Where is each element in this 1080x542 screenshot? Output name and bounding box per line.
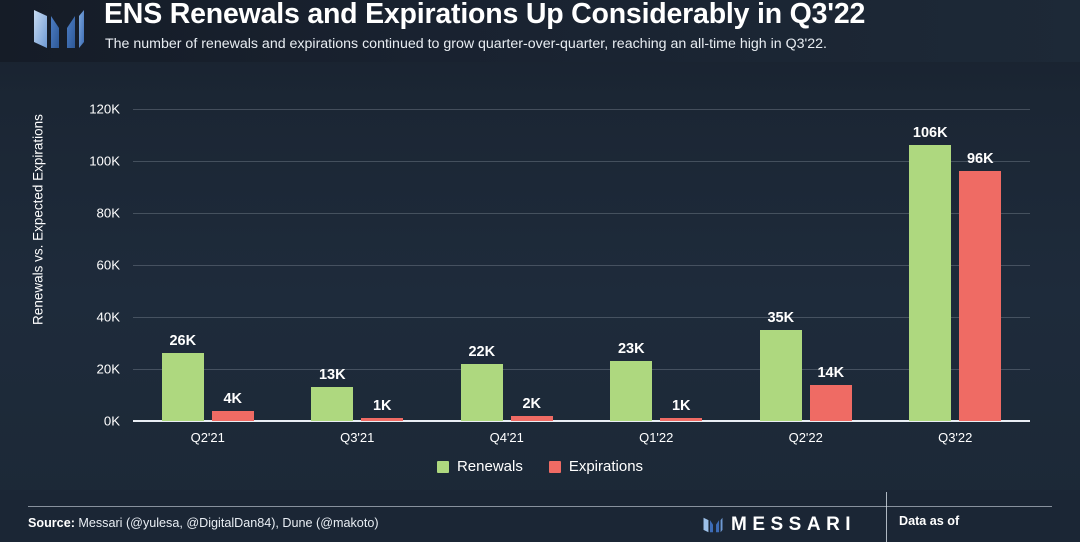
chart-subtitle: The number of renewals and expirations c… bbox=[105, 36, 827, 52]
footer-bar: Source: Messari (@yulesa, @DigitalDan84)… bbox=[0, 490, 1080, 542]
y-axis-tick-label: 100K bbox=[5, 154, 120, 169]
bar-expirations-Q321[interactable]: 1K bbox=[361, 418, 403, 421]
bar-value-label: 1K bbox=[672, 398, 691, 414]
chart-title: ENS Renewals and Expirations Up Consider… bbox=[104, 0, 865, 31]
legend-swatch-renewals bbox=[437, 461, 449, 473]
bar-value-label: 22K bbox=[468, 344, 495, 360]
source-text: Messari (@yulesa, @DigitalDan84), Dune (… bbox=[75, 516, 379, 530]
y-axis-tick-label: 0K bbox=[5, 414, 120, 429]
legend-item-expirations[interactable]: Expirations bbox=[549, 458, 643, 475]
x-axis-tick-label: Q4'21 bbox=[432, 430, 582, 445]
bar-value-label: 106K bbox=[913, 125, 948, 141]
bar-value-label: 14K bbox=[817, 365, 844, 381]
footer-divider-line bbox=[28, 506, 1052, 507]
bar-expirations-Q122[interactable]: 1K bbox=[660, 418, 702, 421]
messari-m-logo-icon bbox=[30, 4, 88, 54]
legend-swatch-expirations bbox=[549, 461, 561, 473]
brand-wordmark: MESSARI bbox=[731, 514, 856, 536]
bar-renewals-Q321[interactable]: 13K bbox=[311, 387, 353, 421]
bar-expirations-Q322[interactable]: 96K bbox=[959, 171, 1001, 421]
bar-groups: 26K4KQ2'2113K1KQ3'2122K2KQ4'2123K1KQ1'22… bbox=[133, 109, 1030, 421]
source-label: Source: bbox=[28, 516, 75, 530]
bar-value-label: 35K bbox=[767, 310, 794, 326]
messari-m-logo-icon bbox=[702, 514, 724, 536]
bar-value-label: 96K bbox=[967, 151, 994, 167]
plot-area: 0K20K40K60K80K100K120K 26K4KQ2'2113K1KQ3… bbox=[133, 109, 1030, 421]
bar-expirations-Q222[interactable]: 14K bbox=[810, 385, 852, 421]
bar-group: 106K96KQ3'22 bbox=[881, 109, 1031, 421]
chart-page: ENS Renewals and Expirations Up Consider… bbox=[0, 0, 1080, 542]
legend-label-expirations: Expirations bbox=[569, 458, 643, 475]
x-axis-tick-label: Q3'21 bbox=[283, 430, 433, 445]
bar-value-label: 2K bbox=[522, 396, 541, 412]
bar-value-label: 23K bbox=[618, 341, 645, 357]
footer-vertical-divider bbox=[886, 492, 887, 542]
bar-group: 23K1KQ1'22 bbox=[582, 109, 732, 421]
x-axis-tick-label: Q1'22 bbox=[582, 430, 732, 445]
bar-value-label: 4K bbox=[223, 391, 242, 407]
bar-renewals-Q421[interactable]: 22K bbox=[461, 364, 503, 421]
bar-expirations-Q221[interactable]: 4K bbox=[212, 411, 254, 421]
bar-renewals-Q122[interactable]: 23K bbox=[610, 361, 652, 421]
source-credit: Source: Messari (@yulesa, @DigitalDan84)… bbox=[28, 516, 379, 530]
bar-value-label: 26K bbox=[169, 333, 196, 349]
bar-group: 22K2KQ4'21 bbox=[432, 109, 582, 421]
y-axis-tick-label: 80K bbox=[5, 206, 120, 221]
y-axis-tick-label: 20K bbox=[5, 362, 120, 377]
bar-value-label: 1K bbox=[373, 398, 392, 414]
footer-brand: MESSARI bbox=[702, 514, 856, 536]
bar-group: 13K1KQ3'21 bbox=[283, 109, 433, 421]
legend-item-renewals[interactable]: Renewals bbox=[437, 458, 523, 475]
bar-group: 35K14KQ2'22 bbox=[731, 109, 881, 421]
bar-renewals-Q221[interactable]: 26K bbox=[162, 353, 204, 421]
chart-area: Renewals vs. Expected Expirations 0K20K4… bbox=[0, 62, 1080, 490]
bar-expirations-Q421[interactable]: 2K bbox=[511, 416, 553, 421]
header-bar: ENS Renewals and Expirations Up Consider… bbox=[0, 0, 1080, 62]
bar-renewals-Q322[interactable]: 106K bbox=[909, 145, 951, 421]
legend-label-renewals: Renewals bbox=[457, 458, 523, 475]
data-as-of-label: Data as of bbox=[899, 514, 959, 528]
bar-value-label: 13K bbox=[319, 367, 346, 383]
y-axis-tick-label: 120K bbox=[5, 102, 120, 117]
y-axis-tick-label: 40K bbox=[5, 310, 120, 325]
x-axis-tick-label: Q3'22 bbox=[881, 430, 1031, 445]
y-axis-tick-label: 60K bbox=[5, 258, 120, 273]
bar-group: 26K4KQ2'21 bbox=[133, 109, 283, 421]
x-axis-tick-label: Q2'22 bbox=[731, 430, 881, 445]
bar-renewals-Q222[interactable]: 35K bbox=[760, 330, 802, 421]
x-axis-tick-label: Q2'21 bbox=[133, 430, 283, 445]
chart-legend: Renewals Expirations bbox=[0, 458, 1080, 475]
